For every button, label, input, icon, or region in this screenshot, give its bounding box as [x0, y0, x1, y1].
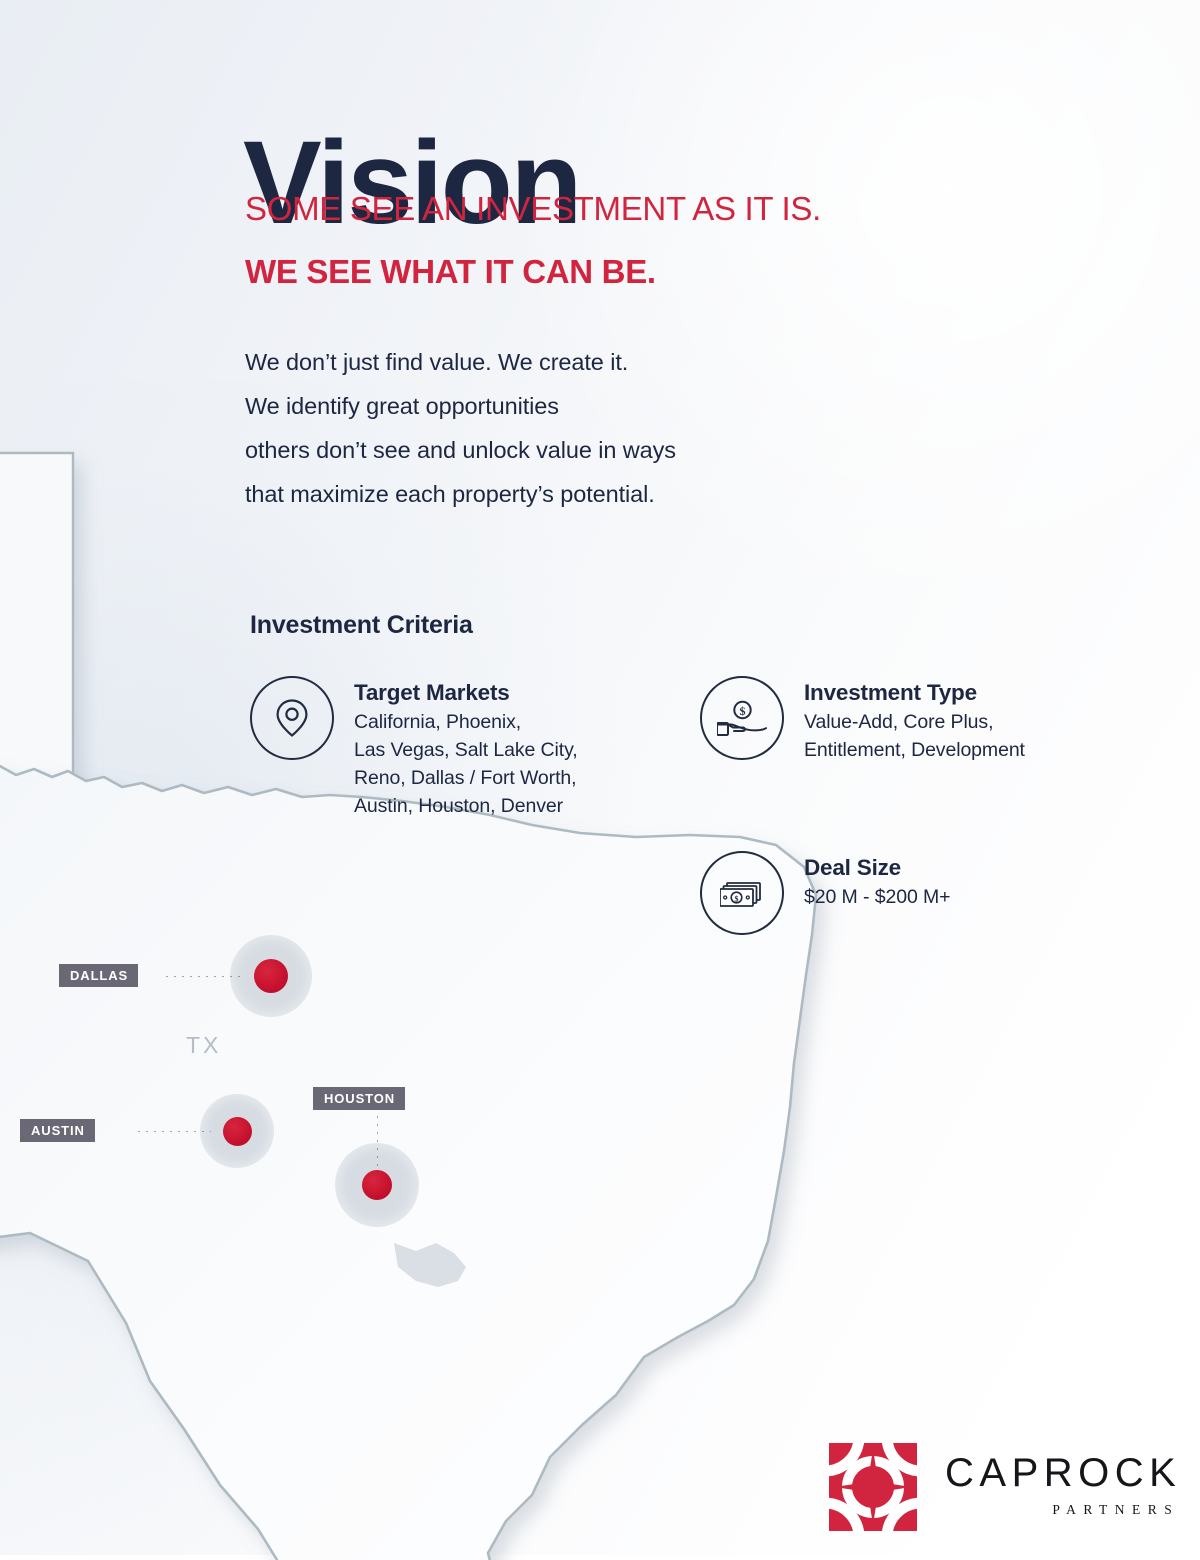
caprock-wordmark: CAPROCK PARTNERS: [945, 1453, 1181, 1522]
criteria-item-investment-type: $ Investment Type Value-Add, Core Plus, …: [700, 676, 1025, 764]
criteria-line: Value-Add, Core Plus,: [804, 708, 1025, 736]
intro-line: others don’t see and unlock value in way…: [245, 428, 905, 472]
criteria-line: California, Phoenix,: [354, 708, 578, 736]
caprock-partners-logo: CAPROCK PARTNERS: [829, 1443, 1181, 1531]
section-title-investment-criteria: Investment Criteria: [250, 611, 473, 640]
criteria-text: Investment Type Value-Add, Core Plus, En…: [804, 676, 1025, 764]
criteria-heading: Deal Size: [804, 853, 950, 883]
banknotes-icon: $: [700, 851, 784, 935]
intro-paragraph: We don’t just find value. We create it. …: [245, 340, 905, 516]
criteria-line: Entitlement, Development: [804, 736, 1025, 764]
criteria-item-target-markets: Target Markets California, Phoenix, Las …: [250, 676, 578, 820]
criteria-heading: Investment Type: [804, 678, 1025, 708]
tagline-line-2: WE SEE WHAT IT CAN BE.: [245, 255, 656, 288]
intro-line: that maximize each property’s potential.: [245, 472, 905, 516]
criteria-item-deal-size: $ Deal Size $20 M - $200 M+: [700, 851, 950, 935]
svg-text:$: $: [735, 894, 739, 903]
intro-line: We identify great opportunities: [245, 384, 905, 428]
criteria-heading: Target Markets: [354, 678, 578, 708]
criteria-body: $20 M - $200 M+: [804, 883, 950, 911]
intro-line: We don’t just find value. We create it.: [245, 340, 905, 384]
criteria-line: $20 M - $200 M+: [804, 883, 950, 911]
criteria-text: Target Markets California, Phoenix, Las …: [354, 676, 578, 820]
location-pin-icon: [250, 676, 334, 760]
caprock-logo-mark-icon: [829, 1443, 917, 1531]
svg-text:$: $: [740, 704, 746, 718]
hand-holding-coin-icon: $: [700, 676, 784, 760]
criteria-line: Austin, Houston, Denver: [354, 792, 578, 820]
criteria-text: Deal Size $20 M - $200 M+: [804, 851, 950, 911]
logo-name: CAPROCK: [945, 1453, 1181, 1493]
criteria-body: California, Phoenix, Las Vegas, Salt Lak…: [354, 708, 578, 820]
criteria-line: Reno, Dallas / Fort Worth,: [354, 764, 578, 792]
criteria-body: Value-Add, Core Plus, Entitlement, Devel…: [804, 708, 1025, 764]
tagline-line-1: SOME SEE AN INVESTMENT AS IT IS.: [245, 192, 821, 225]
logo-subtitle: PARTNERS: [945, 1502, 1181, 1518]
criteria-line: Las Vegas, Salt Lake City,: [354, 736, 578, 764]
